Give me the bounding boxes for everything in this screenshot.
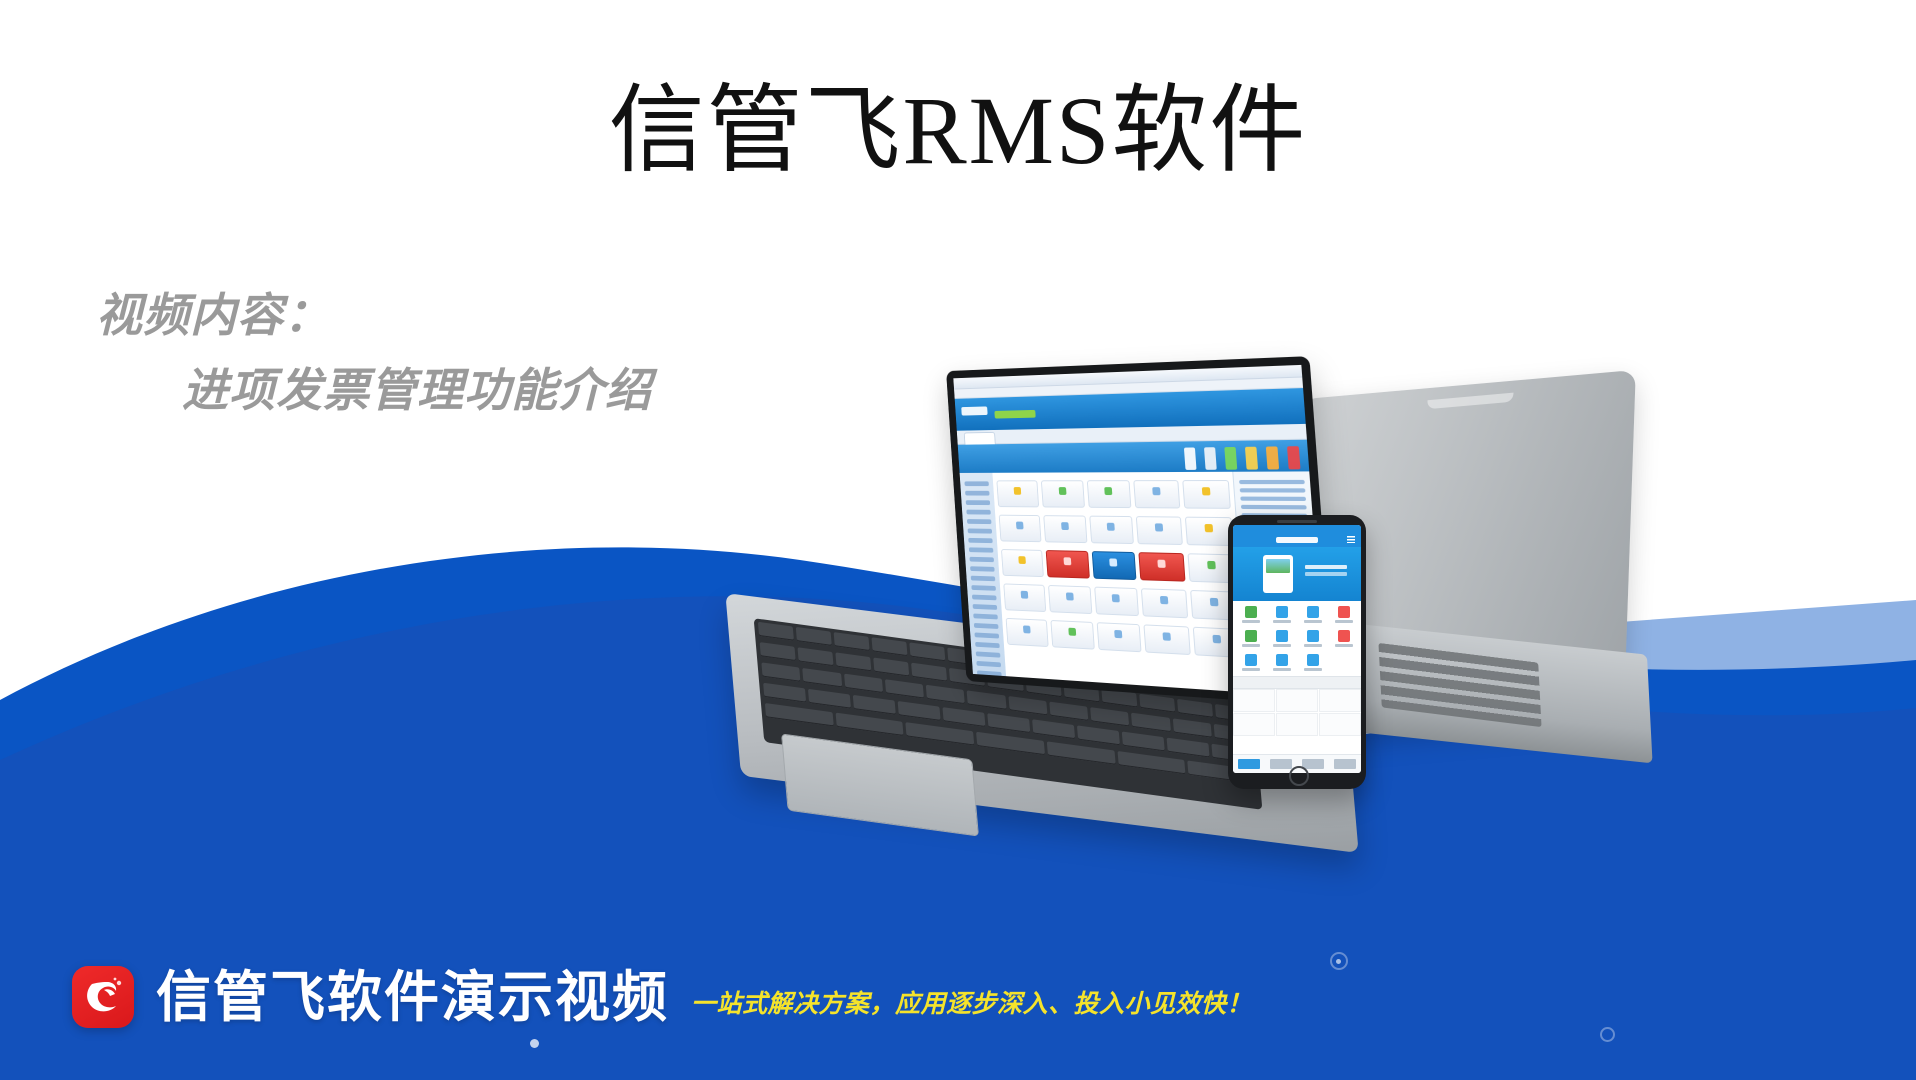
subtitle-topic: 进项发票管理功能介绍 bbox=[96, 353, 652, 428]
device-mockup-group bbox=[880, 385, 1680, 945]
phone-feature-icon bbox=[1267, 654, 1296, 671]
phone-feature-icon bbox=[1267, 630, 1296, 647]
app-icon bbox=[1041, 480, 1085, 507]
app-icon bbox=[999, 515, 1042, 543]
phone-banner-text bbox=[1305, 565, 1347, 569]
phone-tab-home bbox=[1238, 759, 1260, 769]
app-icon bbox=[1182, 480, 1230, 509]
app-icon bbox=[1086, 480, 1131, 508]
app-icon bbox=[1185, 517, 1233, 546]
app-icon bbox=[1139, 552, 1186, 582]
app-icon bbox=[1048, 585, 1092, 614]
app-icon-grid bbox=[996, 480, 1241, 658]
app-icon bbox=[1094, 587, 1140, 617]
app-icon bbox=[1050, 620, 1094, 650]
decorative-ring bbox=[1330, 952, 1348, 970]
toolbar-icon bbox=[1245, 447, 1258, 470]
app-icon bbox=[1136, 516, 1183, 545]
app-icon bbox=[1144, 624, 1191, 655]
app-icon bbox=[1045, 550, 1089, 579]
phone-stat-card bbox=[1276, 713, 1318, 736]
phone-app-title bbox=[1276, 537, 1318, 543]
app-icon bbox=[1096, 622, 1142, 652]
footer-brand-bar: 信管飞软件演示视频 一站式解决方案，应用逐步深入、投入小见效快！ bbox=[72, 966, 1252, 1028]
phone-stat-card bbox=[1319, 689, 1361, 712]
phone-stat-card bbox=[1233, 689, 1275, 712]
phone-feature-icon bbox=[1236, 606, 1265, 623]
phone-stat-card bbox=[1319, 713, 1361, 736]
phone-section-header bbox=[1233, 676, 1361, 689]
subtitle-block: 视频内容： 进项发票管理功能介绍 bbox=[96, 278, 652, 427]
phone-feature-icon bbox=[1298, 630, 1327, 647]
toolbar-icon bbox=[1224, 447, 1237, 470]
toolbar-icon bbox=[1266, 446, 1279, 469]
phone-feature-icon bbox=[1267, 606, 1296, 623]
phone-stat-card bbox=[1233, 713, 1275, 736]
app-icon bbox=[1043, 515, 1087, 543]
brand-bird-logo-icon bbox=[72, 966, 134, 1028]
phone-feature-icon bbox=[1329, 630, 1358, 647]
app-icon bbox=[1089, 516, 1134, 544]
toolbar-icon bbox=[1287, 446, 1301, 469]
phone-device bbox=[1228, 515, 1366, 789]
phone-stat-card bbox=[1276, 689, 1318, 712]
app-logo-icon bbox=[961, 406, 987, 415]
phone-feature-grid bbox=[1233, 601, 1361, 676]
app-tab-active bbox=[964, 432, 996, 445]
app-icon bbox=[1141, 588, 1188, 618]
decorative-dot bbox=[1336, 959, 1341, 964]
hamburger-menu-icon bbox=[1347, 536, 1355, 543]
app-icon-workspace bbox=[992, 472, 1248, 693]
decorative-ring bbox=[1600, 1027, 1615, 1042]
phone-feature-icon bbox=[1329, 606, 1358, 623]
app-icon bbox=[996, 480, 1039, 507]
app-icon bbox=[1134, 480, 1181, 508]
phone-home-button bbox=[1289, 766, 1309, 786]
app-icon bbox=[1001, 549, 1044, 577]
subtitle-label: 视频内容： bbox=[96, 278, 652, 353]
brand-name: 信管飞软件演示视频 bbox=[156, 970, 669, 1025]
phone-feature-icon bbox=[1298, 606, 1327, 623]
phone-tab-apps bbox=[1270, 759, 1292, 769]
phone-screen bbox=[1233, 525, 1361, 773]
phone-earpiece bbox=[1277, 520, 1317, 523]
phone-feature-icon bbox=[1298, 654, 1327, 671]
brand-tagline: 一站式解决方案，应用逐步深入、投入小见效快！ bbox=[691, 984, 1252, 1028]
decorative-dot bbox=[530, 1039, 539, 1048]
phone-statusbar bbox=[1233, 525, 1361, 532]
phone-hero-banner bbox=[1233, 547, 1361, 601]
phone-tab-profile bbox=[1334, 759, 1356, 769]
app-icon bbox=[1003, 583, 1046, 612]
app-icon bbox=[1006, 618, 1049, 647]
app-banner-badge bbox=[994, 410, 1035, 419]
app-icon bbox=[1091, 551, 1136, 580]
toolbar-icon bbox=[1204, 447, 1217, 470]
phone-stat-cards bbox=[1233, 689, 1361, 754]
phone-feature-icon bbox=[1236, 654, 1265, 671]
phone-banner-device-icon bbox=[1263, 555, 1293, 593]
phone-feature-icon bbox=[1236, 630, 1265, 647]
phone-app-header bbox=[1233, 532, 1361, 547]
toolbar-icon bbox=[1184, 447, 1197, 469]
presentation-slide: 信管飞RMS软件 视频内容： 进项发票管理功能介绍 bbox=[0, 0, 1916, 1080]
page-title: 信管飞RMS软件 bbox=[0, 78, 1916, 184]
